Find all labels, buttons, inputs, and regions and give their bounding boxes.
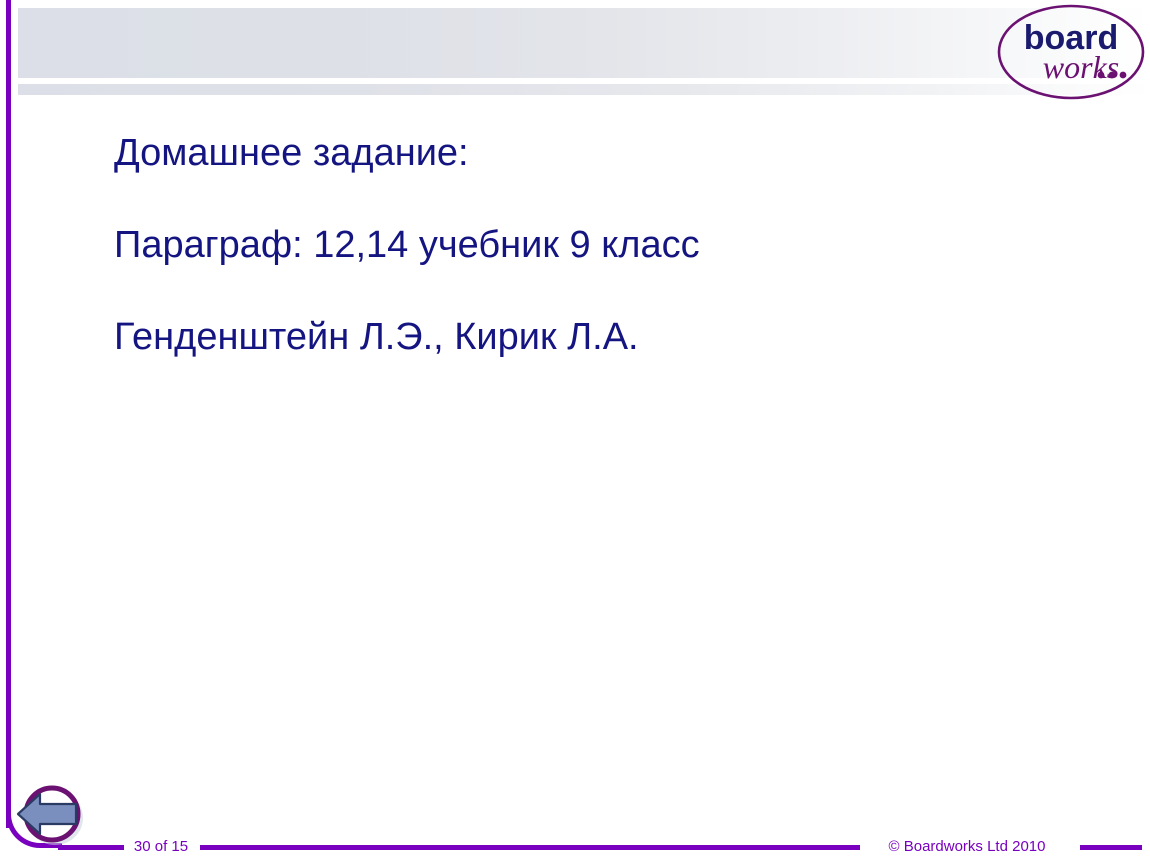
footer-rule-right [1080, 845, 1142, 850]
left-border-line [6, 0, 11, 828]
page-indicator: 30 of 15 [124, 836, 198, 858]
boardworks-logo: board works [995, 2, 1147, 102]
footer-rule-left [58, 845, 124, 850]
header-band-secondary [18, 84, 1150, 95]
logo-dot-1 [1098, 72, 1105, 79]
logo-dot-3 [1120, 72, 1127, 79]
copyright-notice: © Boardworks Ltd 2010 [862, 836, 1072, 858]
slide-canvas: board works Домашнее задание: Параграф: … [0, 0, 1150, 864]
body-line-authors: Генденштейн Л.Э., Кирик Л.А. [114, 316, 1034, 359]
logo-dot-2 [1109, 72, 1116, 79]
logo-word-works: works [1043, 49, 1119, 85]
body-line-paragraph-reference: Параграф: 12,14 учебник 9 класс [114, 224, 1034, 267]
footer-rule-middle [200, 845, 860, 850]
slide-body-text: Домашнее задание: Параграф: 12,14 учебни… [114, 132, 1034, 359]
back-button[interactable] [10, 781, 92, 849]
body-line-homework-heading: Домашнее задание: [114, 132, 1034, 175]
header-band-primary [18, 8, 1150, 78]
